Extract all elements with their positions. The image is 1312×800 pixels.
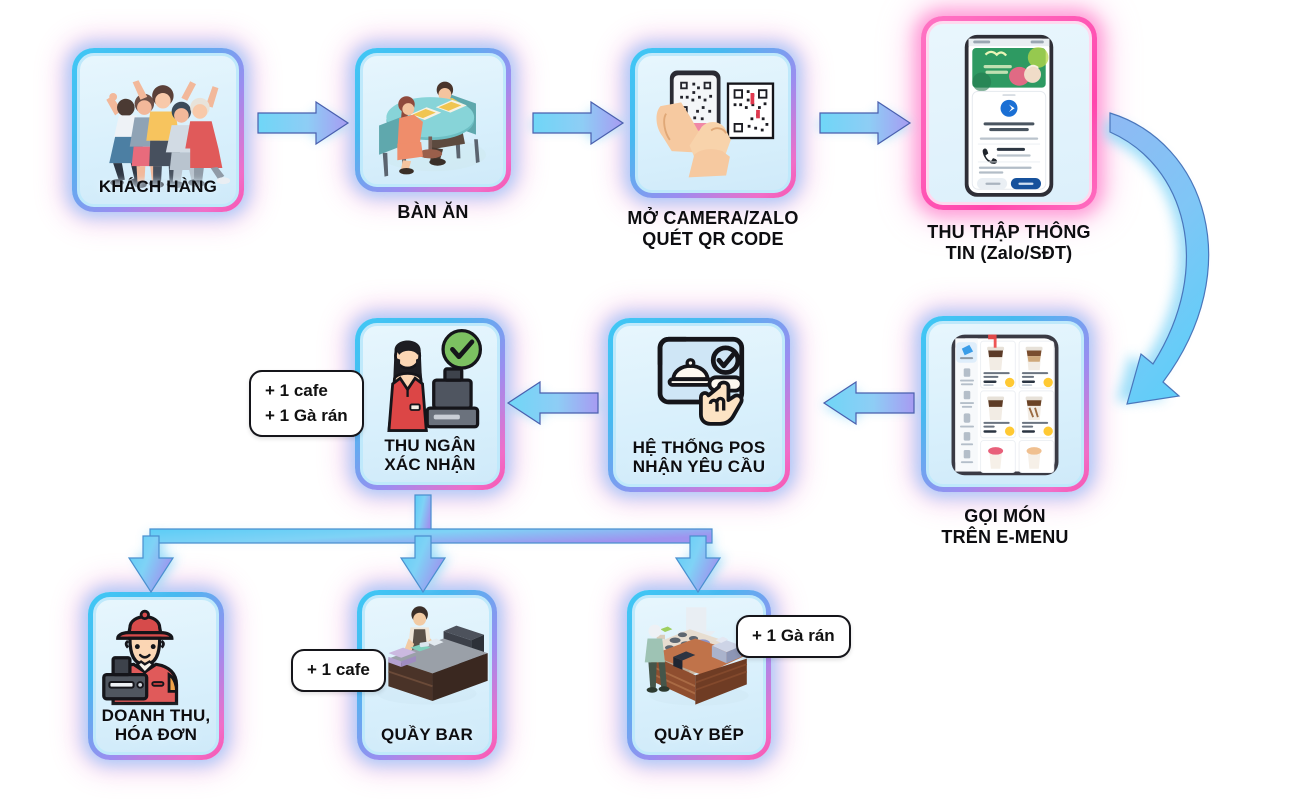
arrow-thungan-branch	[129, 495, 720, 592]
node-box: DOANH THU, HÓA ĐƠN	[88, 592, 224, 760]
phone-permission-dialog-icon	[929, 24, 1089, 202]
node-inner	[360, 53, 506, 187]
node-goi-mon[interactable]: GỌI MÓN TRÊN E-MENU	[921, 316, 1089, 492]
node-inner: KHÁCH HÀNG	[77, 53, 239, 207]
phone-emenu-icon	[929, 324, 1081, 484]
badge-quay-bep: + 1 Gà rán	[736, 615, 851, 658]
node-label: GỌI MÓN TRÊN E-MENU	[941, 506, 1068, 548]
node-box	[630, 48, 796, 198]
badge-thu-ngan: + 1 cafe + 1 Gà rán	[249, 370, 364, 437]
node-khach-hang[interactable]: KHÁCH HÀNG	[72, 48, 244, 212]
arrow-qr-to-thuthap	[820, 102, 910, 144]
node-inner: DOANH THU, HÓA ĐƠN	[93, 597, 219, 755]
node-he-thong-pos[interactable]: HỆ THỐNG POS NHẬN YÊU CẦU	[608, 318, 790, 492]
arrow-khach-to-ban	[258, 102, 348, 144]
flowchart-canvas: KHÁCH HÀNG	[0, 0, 1312, 800]
pos-tap-screen-icon	[616, 326, 782, 440]
arrow-thuthap-to-goimon	[1110, 113, 1209, 404]
cashier-register-man-icon	[96, 600, 216, 710]
node-label: DOANH THU, HÓA ĐƠN	[96, 706, 216, 744]
node-ban-an[interactable]: BÀN ĂN	[355, 48, 511, 192]
dining-table-icon	[363, 56, 503, 184]
node-label: THU NGÂN XÁC NHẬN	[363, 436, 497, 474]
node-label: BÀN ĂN	[397, 202, 468, 223]
node-inner	[635, 53, 791, 193]
node-quet-qr[interactable]: MỞ CAMERA/ZALO QUÉT QR CODE	[630, 48, 796, 198]
badge-quay-bar: + 1 cafe	[291, 649, 386, 692]
node-box	[921, 16, 1097, 210]
node-inner	[926, 21, 1092, 205]
arrow-ban-to-qr	[533, 102, 623, 144]
node-thu-ngan[interactable]: THU NGÂN XÁC NHẬN	[355, 318, 505, 490]
node-label: QUẦY BAR	[365, 725, 489, 744]
node-box: THU NGÂN XÁC NHẬN	[355, 318, 505, 490]
node-inner: HỆ THỐNG POS NHẬN YÊU CẦU	[613, 323, 785, 487]
node-label: HỆ THỐNG POS NHẬN YÊU CẦU	[616, 438, 782, 476]
node-box: HỆ THỐNG POS NHẬN YÊU CẦU	[608, 318, 790, 492]
node-label: MỞ CAMERA/ZALO QUÉT QR CODE	[627, 208, 798, 250]
node-doanh-thu[interactable]: DOANH THU, HÓA ĐƠN	[88, 592, 224, 760]
node-label: QUẦY BẾP	[635, 725, 763, 744]
arrow-pos-to-thungan	[508, 382, 598, 424]
node-label: THU THẬP THÔNG TIN (Zalo/SĐT)	[927, 222, 1090, 264]
node-inner	[926, 321, 1084, 487]
node-box	[921, 316, 1089, 492]
node-label: KHÁCH HÀNG	[80, 177, 236, 196]
node-inner: THU NGÂN XÁC NHẬN	[360, 323, 500, 485]
node-thu-thap-thong-tin[interactable]: THU THẬP THÔNG TIN (Zalo/SĐT)	[921, 16, 1097, 210]
arrow-goimon-to-pos	[824, 382, 914, 424]
cashier-woman-icon	[363, 326, 497, 438]
hand-phone-qr-icon	[638, 56, 788, 190]
node-box: KHÁCH HÀNG	[72, 48, 244, 212]
node-box	[355, 48, 511, 192]
